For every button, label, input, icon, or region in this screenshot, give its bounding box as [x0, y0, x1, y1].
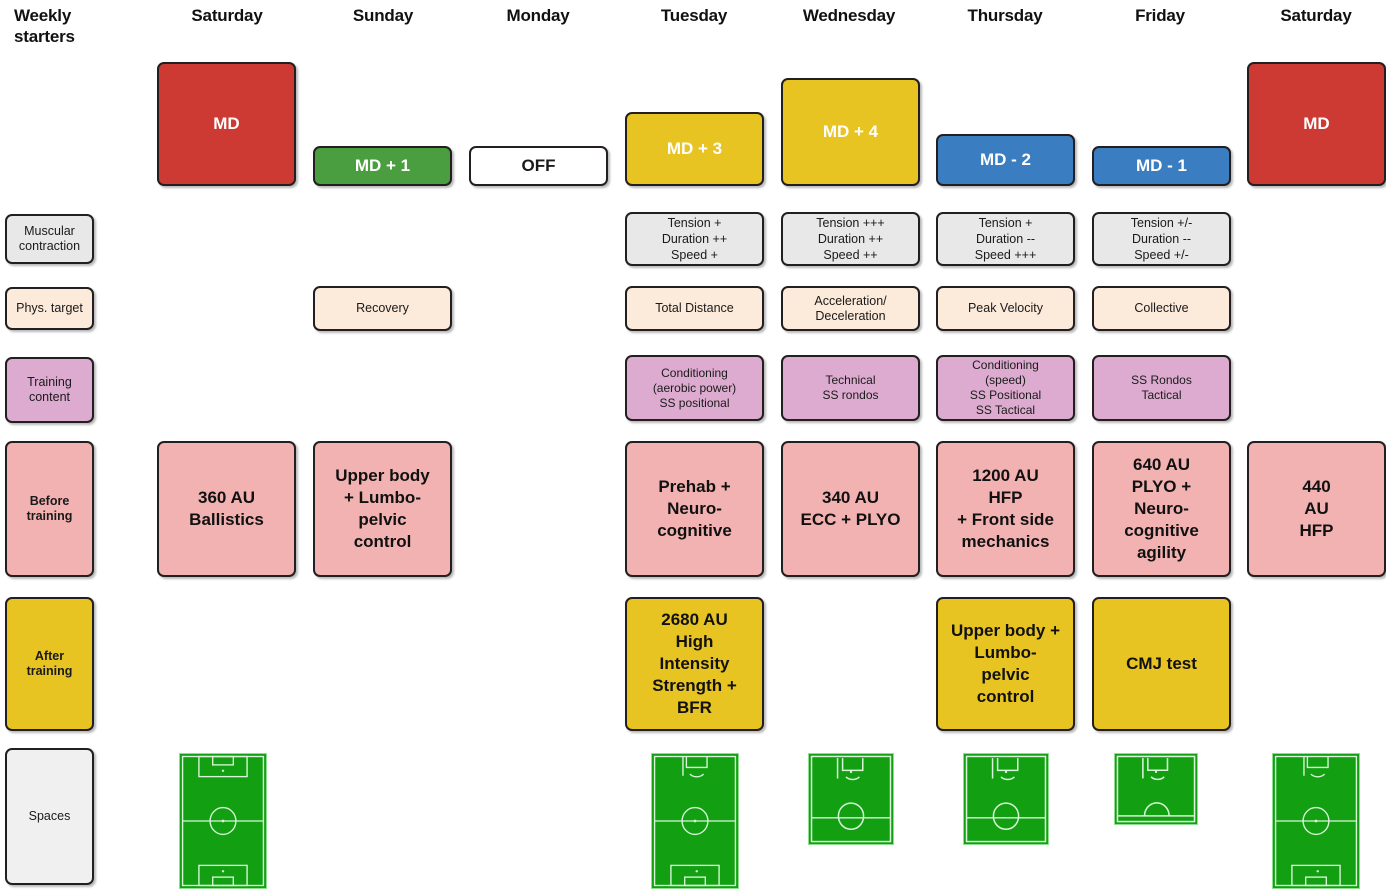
cell-text: Total Distance — [631, 301, 758, 316]
cell-text: Peak Velocity — [942, 301, 1069, 316]
cell-text: Collective — [1098, 301, 1225, 316]
row-label-muscular-contraction: Muscularcontraction — [5, 214, 94, 264]
md-bar-sunday[interactable]: MD + 1 — [313, 146, 452, 186]
phys-cell-tuesday[interactable]: Total Distance — [625, 286, 764, 331]
column-header-sunday: Sunday — [316, 5, 450, 26]
before-cell-sunday[interactable]: Upper body+ Lumbo-pelviccontrol — [313, 441, 452, 577]
md-bar-label: MD + 3 — [631, 139, 758, 159]
before-cell-thursday[interactable]: 1200 AUHFP+ Front sidemechanics — [936, 441, 1075, 577]
after-cell-thursday[interactable]: Upper body +Lumbo-pelviccontrol — [936, 597, 1075, 731]
after-cell-friday[interactable]: CMJ test — [1092, 597, 1231, 731]
md-bar-label: MD + 1 — [319, 156, 446, 176]
cell-text: Tension +++Duration ++Speed ++ — [787, 215, 914, 263]
md-bar-saturday-1[interactable]: MD — [157, 62, 296, 186]
football-pitch-icon-saturday-2[interactable] — [1272, 753, 1360, 889]
muscular-cell-thursday[interactable]: Tension +Duration --Speed +++ — [936, 212, 1075, 266]
training-cell-tuesday[interactable]: Conditioning(aerobic power)SS positional — [625, 355, 764, 421]
cell-text: Conditioning(aerobic power)SS positional — [631, 366, 758, 411]
cell-text: 1200 AUHFP+ Front sidemechanics — [942, 465, 1069, 553]
row-label-text: Beforetraining — [11, 494, 88, 524]
phys-cell-sunday[interactable]: Recovery — [313, 286, 452, 331]
cell-text: Upper body +Lumbo-pelviccontrol — [942, 620, 1069, 708]
football-pitch-icon-tuesday[interactable] — [651, 753, 739, 889]
cell-text: Tension +Duration ++Speed + — [631, 215, 758, 263]
pitch-markings — [652, 754, 738, 888]
cell-text: Acceleration/Deceleration — [787, 294, 914, 324]
md-bar-label: OFF — [475, 156, 602, 176]
row-label-training-content: Trainingcontent — [5, 357, 94, 423]
row-label-before-training: Beforetraining — [5, 441, 94, 577]
phys-cell-wednesday[interactable]: Acceleration/Deceleration — [781, 286, 920, 331]
column-header-tuesday: Tuesday — [627, 5, 761, 26]
football-pitch-icon-friday[interactable] — [1114, 753, 1198, 825]
training-cell-wednesday[interactable]: TechnicalSS rondos — [781, 355, 920, 421]
cell-text: 340 AUECC + PLYO — [787, 487, 914, 531]
row-label-after-training: Aftertraining — [5, 597, 94, 731]
phys-cell-friday[interactable]: Collective — [1092, 286, 1231, 331]
before-cell-wednesday[interactable]: 340 AUECC + PLYO — [781, 441, 920, 577]
row-label-spaces: Spaces — [5, 748, 94, 885]
cell-text: 360 AUBallistics — [163, 487, 290, 531]
column-header-monday: Monday — [471, 5, 605, 26]
phys-cell-thursday[interactable]: Peak Velocity — [936, 286, 1075, 331]
column-header-friday: Friday — [1093, 5, 1227, 26]
after-cell-tuesday[interactable]: 2680 AUHighIntensityStrength +BFR — [625, 597, 764, 731]
weekly-training-periodization-board: Weeklystarters Saturday Sunday Monday Tu… — [0, 0, 1386, 893]
md-bar-label: MD - 2 — [942, 150, 1069, 170]
football-pitch-icon-wednesday[interactable] — [808, 753, 894, 845]
cell-text: TechnicalSS rondos — [787, 373, 914, 403]
column-header-thursday: Thursday — [938, 5, 1072, 26]
cell-text: Tension +/-Duration --Speed +/- — [1098, 215, 1225, 263]
row-label-text: Trainingcontent — [11, 375, 88, 405]
row-label-text: Phys. target — [11, 301, 88, 316]
muscular-cell-friday[interactable]: Tension +/-Duration --Speed +/- — [1092, 212, 1231, 266]
before-cell-tuesday[interactable]: Prehab +Neuro-cognitive — [625, 441, 764, 577]
muscular-cell-tuesday[interactable]: Tension +Duration ++Speed + — [625, 212, 764, 266]
column-header-saturday-1: Saturday — [160, 5, 294, 26]
row-label-text: Muscularcontraction — [11, 224, 88, 254]
pitch-markings — [180, 754, 266, 888]
pitch-markings — [1273, 754, 1359, 888]
cell-text: Prehab +Neuro-cognitive — [631, 476, 758, 542]
before-cell-saturday-1[interactable]: 360 AUBallistics — [157, 441, 296, 577]
football-pitch-icon-saturday-1[interactable] — [179, 753, 267, 889]
cell-text: Recovery — [319, 301, 446, 316]
before-cell-saturday-2[interactable]: 440AUHFP — [1247, 441, 1386, 577]
before-cell-friday[interactable]: 640 AUPLYO +Neuro-cognitiveagility — [1092, 441, 1231, 577]
md-bar-label: MD — [1253, 114, 1380, 134]
md-bar-friday[interactable]: MD - 1 — [1092, 146, 1231, 186]
training-cell-friday[interactable]: SS RondosTactical — [1092, 355, 1231, 421]
training-cell-thursday[interactable]: Conditioning(speed)SS PositionalSS Tacti… — [936, 355, 1075, 421]
md-bar-monday[interactable]: OFF — [469, 146, 608, 186]
football-pitch-icon-thursday[interactable] — [963, 753, 1049, 845]
pitch-markings — [964, 754, 1048, 844]
cell-text: Tension +Duration --Speed +++ — [942, 215, 1069, 263]
cell-text: 2680 AUHighIntensityStrength +BFR — [631, 609, 758, 719]
cell-text: Conditioning(speed)SS PositionalSS Tacti… — [942, 358, 1069, 418]
row-label-phys-target: Phys. target — [5, 287, 94, 330]
md-bar-thursday[interactable]: MD - 2 — [936, 134, 1075, 186]
pitch-markings — [1115, 754, 1197, 824]
cell-text: SS RondosTactical — [1098, 373, 1225, 403]
md-bar-saturday-2[interactable]: MD — [1247, 62, 1386, 186]
md-bar-label: MD + 4 — [787, 122, 914, 142]
row-label-text: Spaces — [11, 809, 88, 824]
md-bar-tuesday[interactable]: MD + 3 — [625, 112, 764, 186]
cell-text: 440AUHFP — [1253, 476, 1380, 542]
muscular-cell-wednesday[interactable]: Tension +++Duration ++Speed ++ — [781, 212, 920, 266]
md-bar-wednesday[interactable]: MD + 4 — [781, 78, 920, 186]
cell-text: CMJ test — [1098, 653, 1225, 675]
column-header-wednesday: Wednesday — [782, 5, 916, 26]
cell-text: Upper body+ Lumbo-pelviccontrol — [319, 465, 446, 553]
cell-text: 640 AUPLYO +Neuro-cognitiveagility — [1098, 454, 1225, 564]
column-header-saturday-2: Saturday — [1249, 5, 1383, 26]
column-header-weekly-starters: Weeklystarters — [14, 5, 124, 47]
md-bar-label: MD - 1 — [1098, 156, 1225, 176]
md-bar-label: MD — [163, 114, 290, 134]
pitch-markings — [809, 754, 893, 844]
row-label-text: Aftertraining — [11, 649, 88, 679]
